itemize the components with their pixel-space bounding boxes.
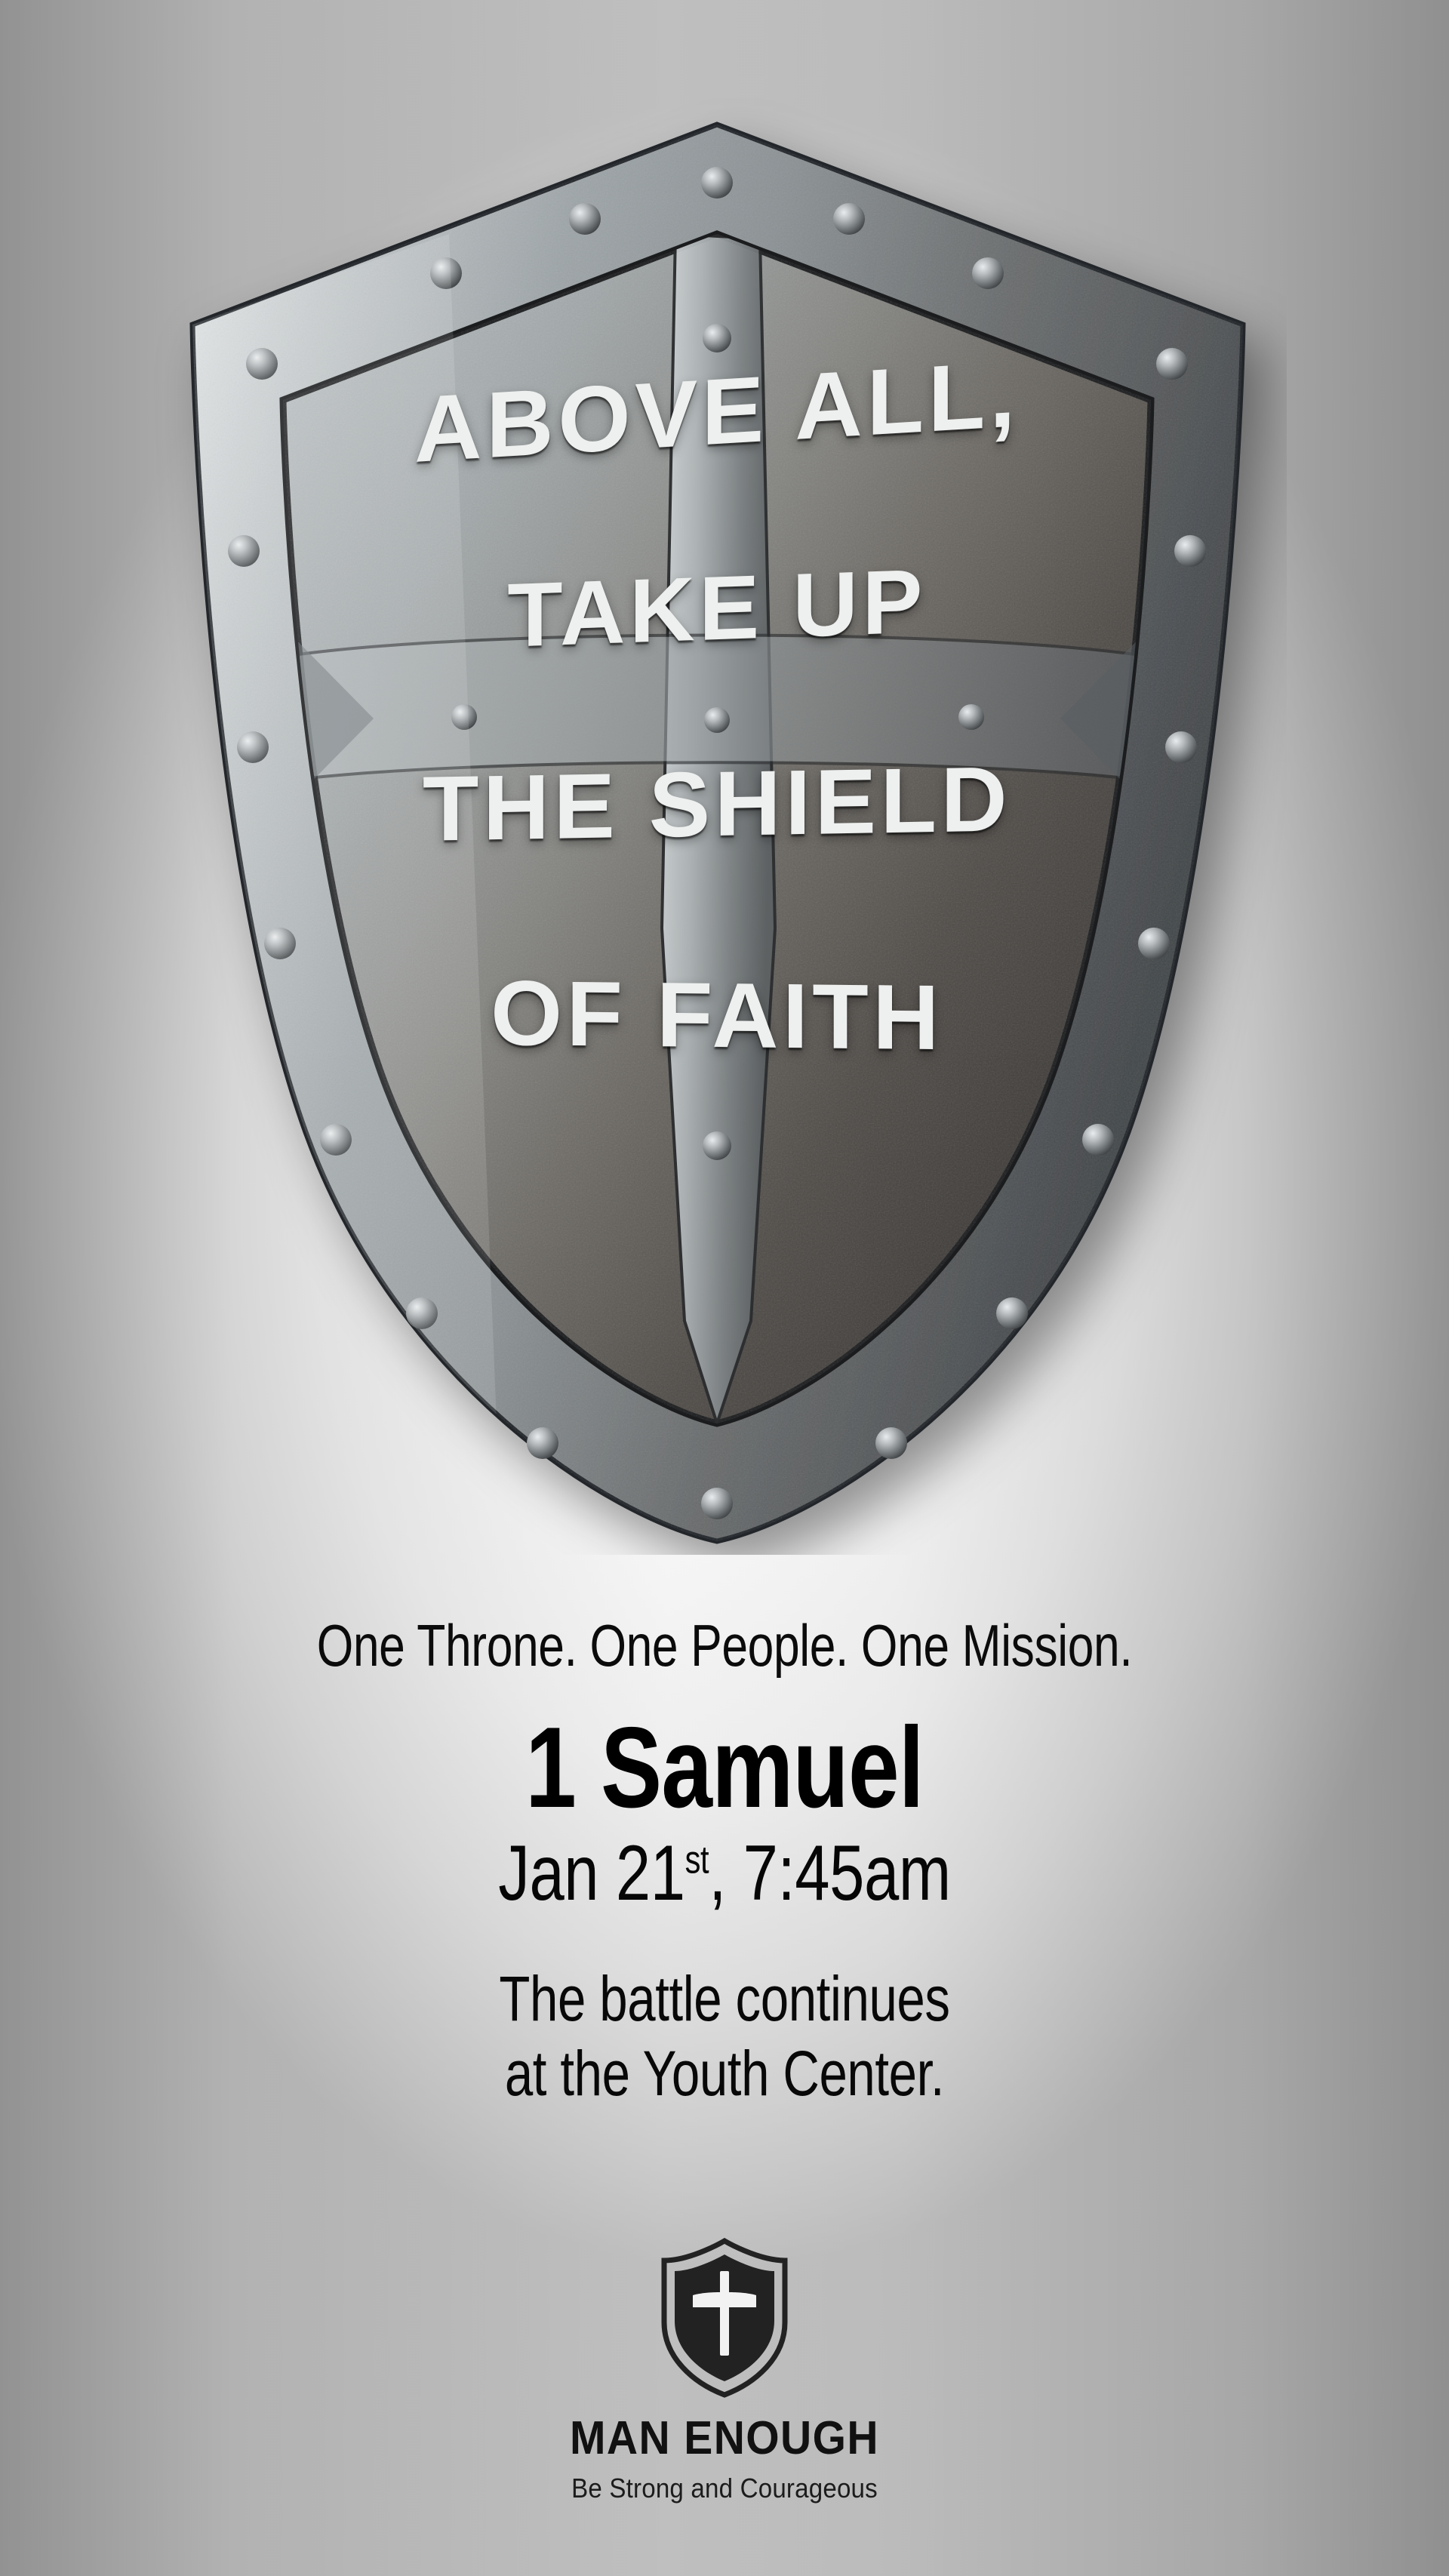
shield-cross-icon: [660, 2238, 789, 2398]
series-title: 1 Samuel: [145, 1710, 1304, 1825]
event-blurb-line-1: The battle continues: [145, 1962, 1304, 2036]
tagline: One Throne. One People. One Mission.: [145, 1615, 1304, 1677]
brand-subtitle: Be Strong and Courageous: [58, 2473, 1391, 2504]
date-ordinal-suffix: st: [685, 1838, 709, 1882]
event-copy-block: One Throne. One People. One Mission. 1 S…: [0, 1615, 1449, 2111]
event-date: Jan 21: [498, 1830, 685, 1917]
brand-lockup: MAN ENOUGH Be Strong and Courageous: [0, 2238, 1449, 2504]
shield-svg: [147, 98, 1287, 1555]
event-blurb: The battle continues at the Youth Center…: [145, 1962, 1304, 2111]
brand-name: MAN ENOUGH: [58, 2411, 1391, 2465]
shield-illustration: ABOVE ALL, TAKE UP THE SHIELD OF FAITH: [147, 98, 1287, 1555]
event-time: , 7:45am: [709, 1830, 951, 1917]
event-datetime: Jan 21st, 7:45am: [145, 1833, 1304, 1915]
poster-canvas: ABOVE ALL, TAKE UP THE SHIELD OF FAITH O…: [0, 0, 1449, 2576]
hero-shield-graphic: ABOVE ALL, TAKE UP THE SHIELD OF FAITH: [0, 0, 1449, 1577]
event-blurb-line-2: at the Youth Center.: [145, 2036, 1304, 2111]
